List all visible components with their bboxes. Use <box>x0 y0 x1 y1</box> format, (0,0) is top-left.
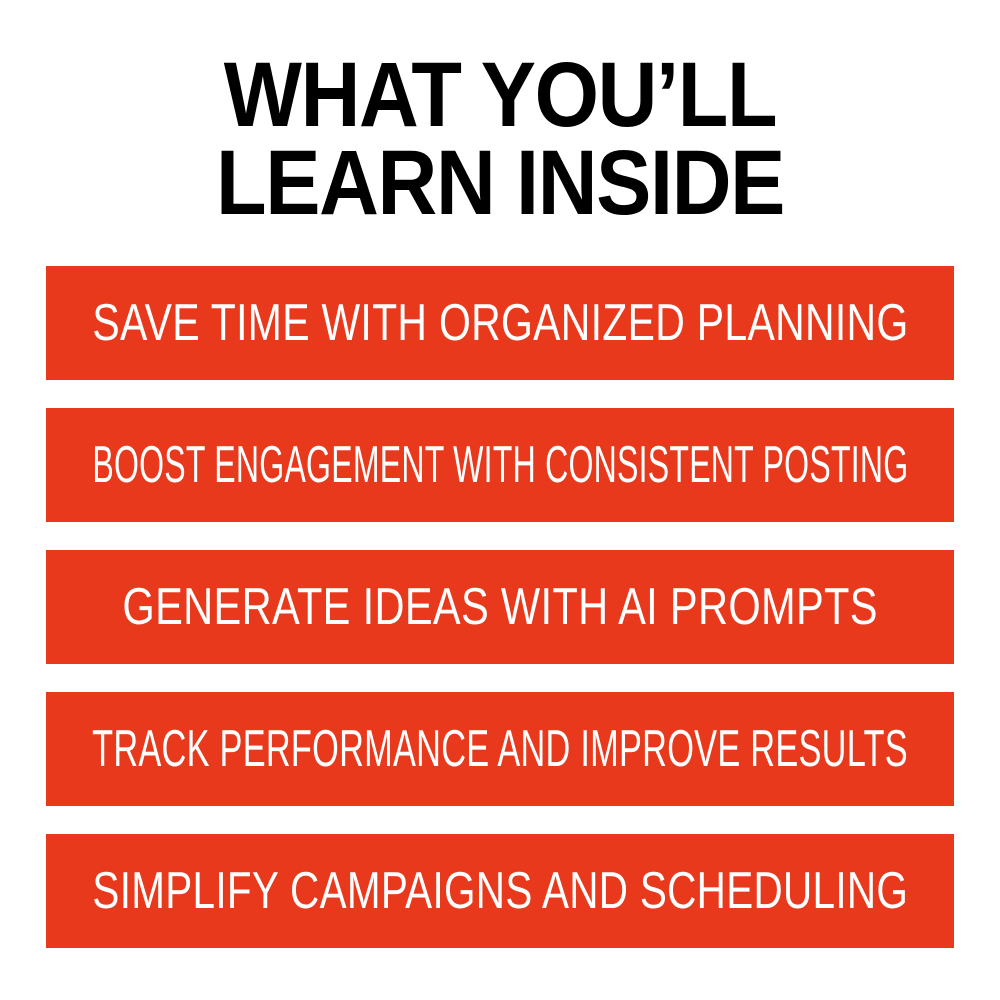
benefit-bar-2[interactable]: BOOST ENGAGEMENT WITH CONSISTENT POSTING <box>46 408 954 522</box>
page-title-line-2: LEARN INSIDE <box>77 140 923 226</box>
benefit-bar-5-label: SIMPLIFY CAMPAIGNS AND SCHEDULING <box>92 865 908 917</box>
benefit-bar-4[interactable]: TRACK PERFORMANCE AND IMPROVE RESULTS <box>46 692 954 806</box>
benefit-bar-1-label: SAVE TIME WITH ORGANIZED PLANNING <box>92 297 908 349</box>
benefit-bar-1[interactable]: SAVE TIME WITH ORGANIZED PLANNING <box>46 266 954 380</box>
benefit-bar-3[interactable]: GENERATE IDEAS WITH AI PROMPTS <box>46 550 954 664</box>
benefit-bar-4-label: TRACK PERFORMANCE AND IMPROVE RESULTS <box>92 723 908 775</box>
benefit-bar-list: SAVE TIME WITH ORGANIZED PLANNING BOOST … <box>46 266 954 948</box>
poster-canvas: WHAT YOU’LL LEARN INSIDE SAVE TIME WITH … <box>0 0 1000 1000</box>
page-title: WHAT YOU’LL LEARN INSIDE <box>0 52 1000 227</box>
page-title-line-1: WHAT YOU’LL <box>77 52 923 138</box>
benefit-bar-2-label: BOOST ENGAGEMENT WITH CONSISTENT POSTING <box>92 439 908 491</box>
benefit-bar-3-label: GENERATE IDEAS WITH AI PROMPTS <box>122 581 877 633</box>
benefit-bar-5[interactable]: SIMPLIFY CAMPAIGNS AND SCHEDULING <box>46 834 954 948</box>
